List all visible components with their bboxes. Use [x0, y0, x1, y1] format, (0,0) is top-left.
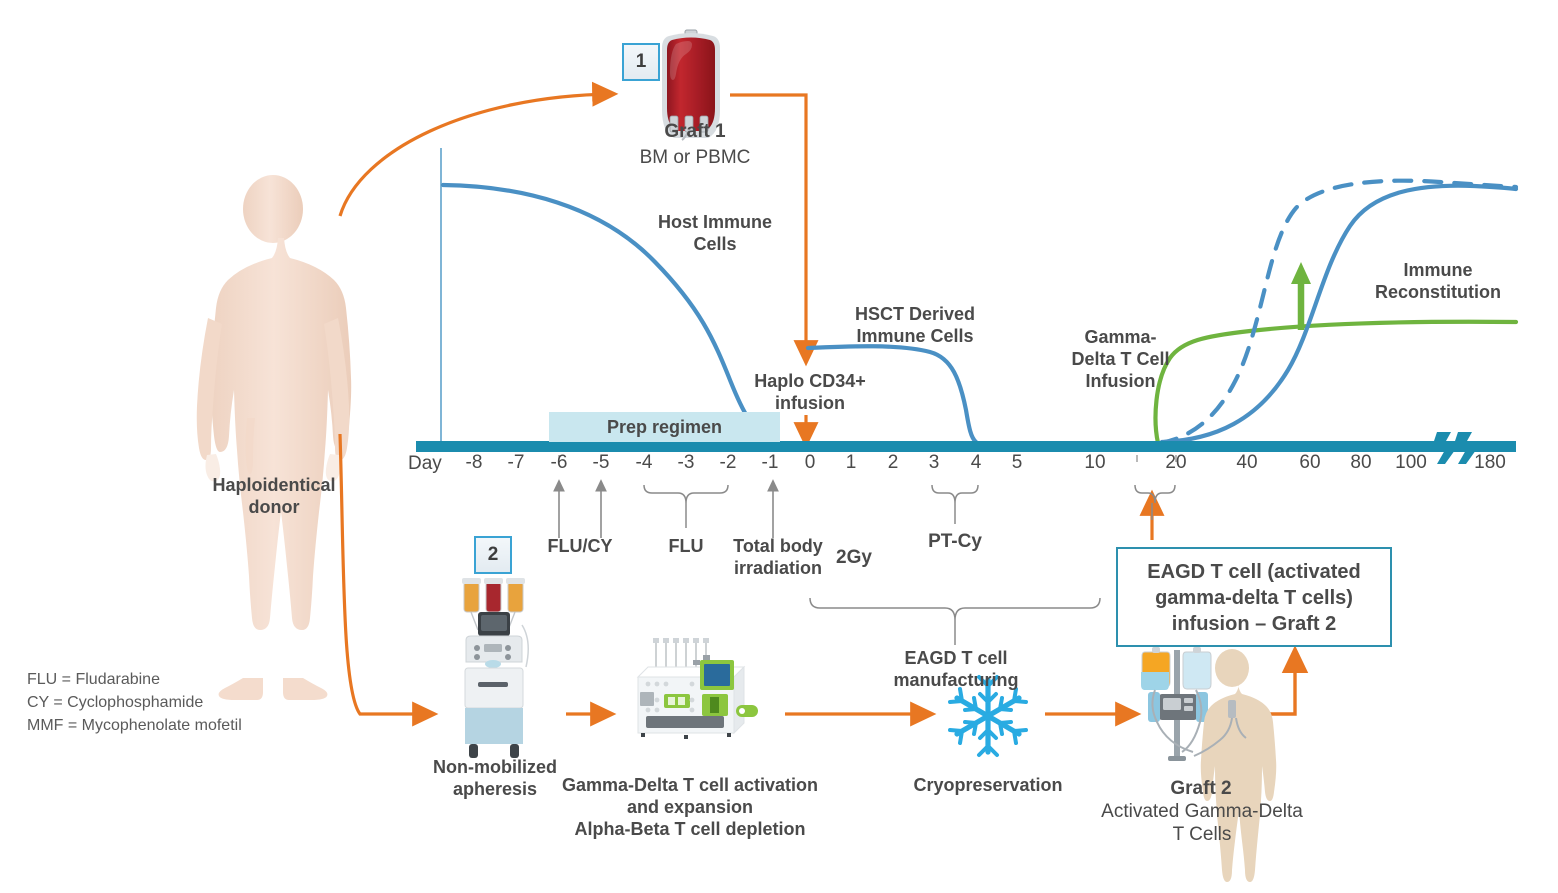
axis-tick-5: 5 [997, 452, 1037, 474]
axis-tick-1: 1 [831, 452, 871, 474]
legend-line-cy: CY = Cyclophosphamide [27, 691, 327, 714]
graft1-subtitle: BM or PBMC [620, 146, 770, 169]
iv-infusion-patient-icon [1141, 647, 1276, 882]
eagd-manufacturing-label: EAGD T cell manufacturing [874, 648, 1038, 692]
flu-label: FLU [650, 536, 722, 558]
brace-pt-cy [932, 485, 978, 503]
two-gy-label: 2Gy [828, 546, 880, 569]
haplo-cd34-infusion-label: Haplo CD34+ infusion [740, 371, 880, 415]
axis-tick-0: 0 [790, 452, 830, 474]
arrow-donor-to-graft1 [340, 94, 612, 216]
graft2-title: Graft 2 [1130, 777, 1272, 800]
graft2-subtitle: Activated Gamma-Delta T Cells [1096, 800, 1308, 846]
day-axis-label: Day [408, 452, 458, 475]
curve-immune-reconstitution-solid [1162, 186, 1516, 442]
axis-tick-100: 100 [1391, 452, 1431, 474]
axis-tick-minus8: -8 [454, 452, 494, 474]
legend-line-mmf: MMF = Mycophenolate mofetil [27, 714, 327, 737]
curve-immune-reconstitution-dashed [1160, 181, 1516, 443]
prep-regimen-band: Prep regimen [549, 412, 780, 442]
gamma-delta-t-cell-infusion-label: Gamma- Delta T Cell Infusion [1058, 327, 1183, 393]
host-immune-cells-label: Host Immune Cells [640, 212, 790, 256]
hsct-derived-immune-cells-label: HSCT Derived Immune Cells [838, 304, 992, 348]
haploidentical-donor-figure [197, 175, 351, 700]
haploidentical-donor-label: Haploidentical donor [185, 475, 363, 519]
axis-tick-minus7: -7 [496, 452, 536, 474]
diagram-canvas: Prep regimen 1 2 Graft 1 BM or PBMC Host… [0, 0, 1558, 893]
apheresis-machine-icon [462, 578, 528, 758]
axis-tick-40: 40 [1227, 452, 1267, 474]
diagram-vector-layer [0, 0, 1558, 893]
axis-tick-180: 180 [1470, 452, 1510, 474]
alpha-beta-depletion-label: Alpha-Beta T cell depletion [550, 819, 830, 841]
axis-tick-10: 10 [1075, 452, 1115, 474]
axis-tick-80: 80 [1341, 452, 1381, 474]
total-body-irradiation-label: Total body irradiation [723, 536, 833, 580]
axis-tick-3: 3 [914, 452, 954, 474]
axis-tick-minus5: -5 [581, 452, 621, 474]
timeline-axis-bar [416, 441, 1516, 452]
flu-cy-label: FLU/CY [534, 536, 626, 558]
prep-regimen-label: Prep regimen [607, 417, 722, 437]
abbreviation-legend: FLU = Fludarabine CY = Cyclophosphamide … [27, 668, 327, 738]
cryopreservation-label: Cryopreservation [898, 775, 1078, 797]
curve-gamma-delta-t-cells [1156, 322, 1516, 443]
brace-eagd-infusion [1135, 485, 1175, 503]
immune-reconstitution-label: Immune Reconstitution [1350, 260, 1526, 304]
axis-tick-minus1: -1 [750, 452, 790, 474]
step-badge-1[interactable]: 1 [622, 43, 660, 81]
brace-eagd-manufacturing [810, 598, 1100, 620]
gd-activation-expansion-label: Gamma-Delta T cell activation and expans… [550, 775, 830, 819]
axis-tick-2: 2 [873, 452, 913, 474]
step-badge-2[interactable]: 2 [474, 536, 512, 574]
axis-tick-20: 20 [1156, 452, 1196, 474]
eagd-infusion-box[interactable]: EAGD T cell (activated gamma-delta T cel… [1116, 547, 1392, 647]
axis-tick-4: 4 [956, 452, 996, 474]
axis-tick-minus2: -2 [708, 452, 748, 474]
legend-line-flu: FLU = Fludarabine [27, 668, 327, 691]
cell-processing-device-icon [638, 638, 758, 739]
axis-tick-minus4: -4 [624, 452, 664, 474]
axis-tick-minus6: -6 [539, 452, 579, 474]
graft1-title: Graft 1 [630, 120, 760, 143]
axis-tick-60: 60 [1290, 452, 1330, 474]
brace-flu [644, 485, 728, 503]
pt-cy-label: PT-Cy [918, 530, 992, 553]
axis-tick-minus3: -3 [666, 452, 706, 474]
